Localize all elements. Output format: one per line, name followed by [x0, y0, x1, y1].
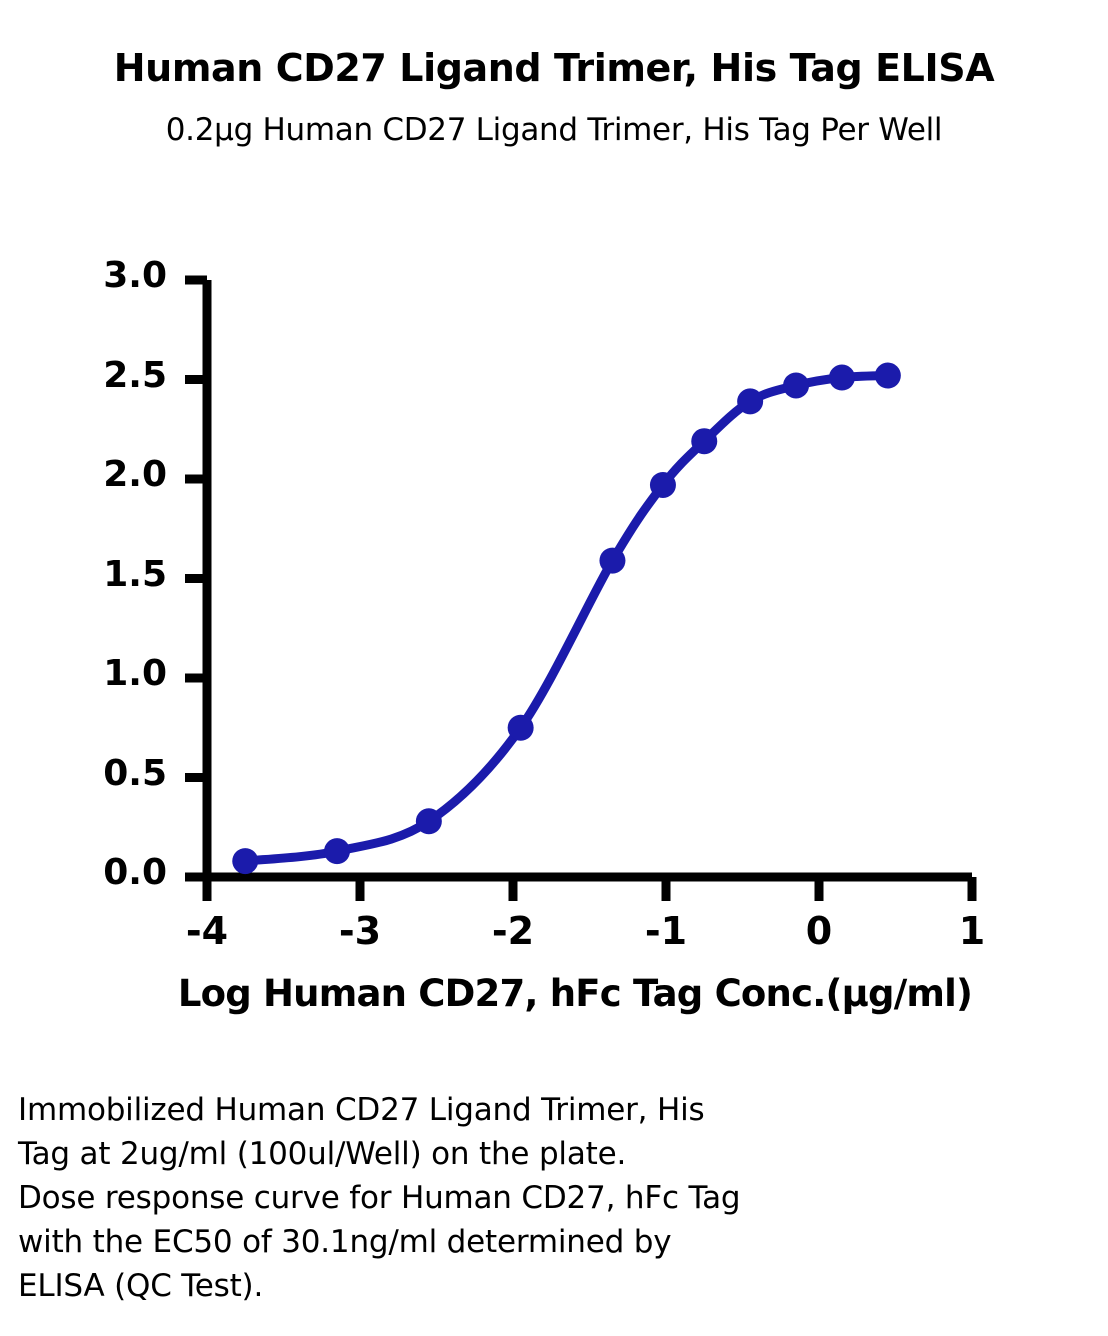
x-tick-label: -4: [172, 909, 242, 953]
y-tick-label: 1.5: [77, 554, 167, 595]
data-point-marker: [875, 363, 901, 389]
y-tick-label: 2.5: [77, 355, 167, 396]
y-tick-label: 1.0: [77, 653, 167, 694]
y-tick-label: 3.0: [77, 255, 167, 296]
x-tick-label: 1: [937, 909, 1007, 953]
x-axis-title: Log Human CD27, hFc Tag Conc.(µg/ml): [100, 972, 1050, 1015]
data-point-marker: [599, 548, 625, 574]
data-point-marker: [691, 428, 717, 454]
data-point-marker: [829, 365, 855, 391]
y-tick-label: 0.5: [77, 753, 167, 794]
data-point-marker: [737, 388, 763, 414]
figure-caption: Immobilized Human CD27 Ligand Trimer, Hi…: [18, 1088, 1018, 1308]
x-tick-label: -1: [631, 909, 701, 953]
data-point-marker: [783, 372, 809, 398]
y-tick-label: 0.0: [77, 852, 167, 893]
x-tick-label: -2: [478, 909, 548, 953]
y-tick-label: 2.0: [77, 454, 167, 495]
data-point-marker: [416, 808, 442, 834]
data-series: [232, 363, 901, 875]
data-point-marker: [324, 838, 350, 864]
series-line: [245, 376, 888, 862]
elisa-dose-response-plot: [0, 0, 1108, 1060]
data-point-marker: [650, 472, 676, 498]
x-tick-label: -3: [325, 909, 395, 953]
data-point-marker: [508, 715, 534, 741]
figure-root: Human CD27 Ligand Trimer, His Tag ELISA …: [0, 0, 1108, 1336]
x-tick-label: 0: [784, 909, 854, 953]
plot-area: Mean Abs.(OD450) Log Human CD27, hFc Tag…: [0, 0, 1108, 1060]
data-point-marker: [232, 848, 258, 874]
